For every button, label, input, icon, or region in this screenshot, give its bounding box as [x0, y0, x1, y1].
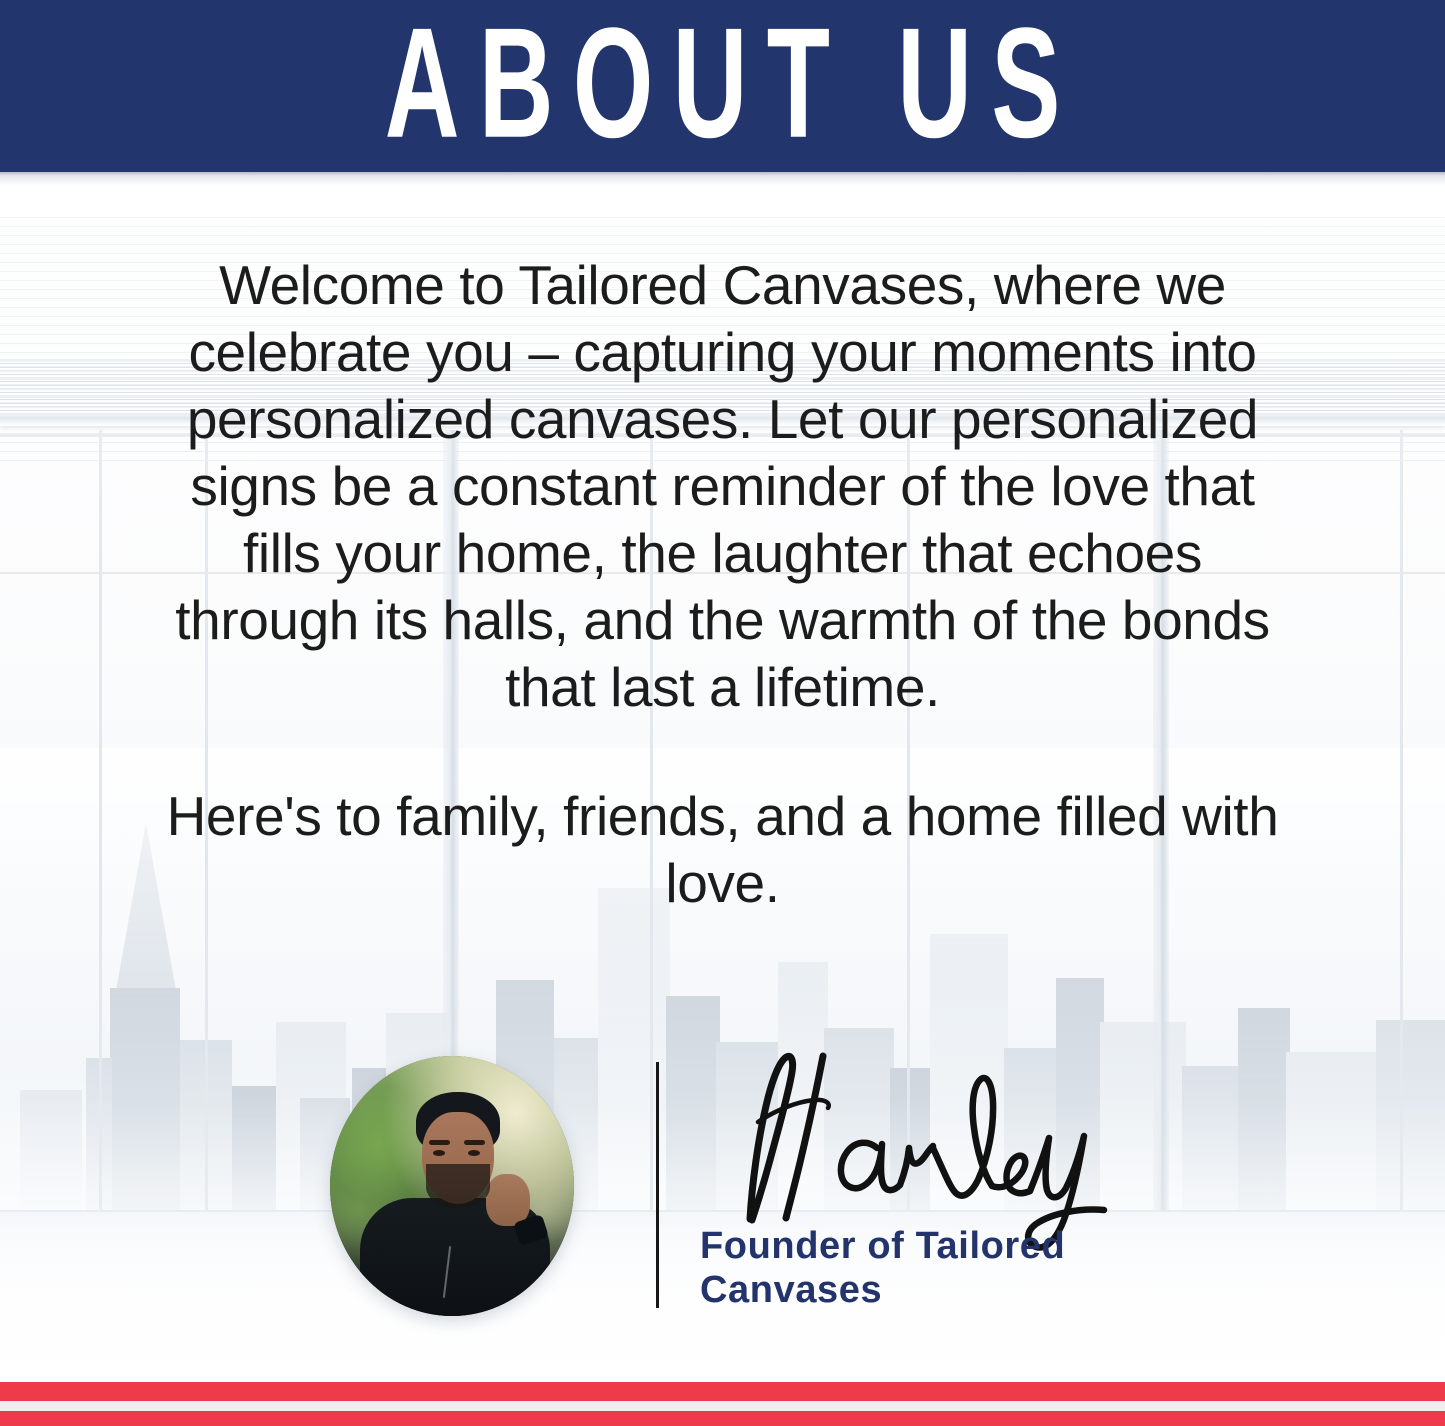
footer-stripe-top: [0, 1382, 1445, 1401]
building: [1286, 1052, 1380, 1218]
about-us-page: ABOUT US Welcome to Tailored Canvases, w…: [0, 0, 1445, 1426]
about-copy: Welcome to Tailored Canvases, where we c…: [150, 252, 1295, 917]
building: [1182, 1066, 1242, 1218]
vertical-divider: [656, 1062, 659, 1308]
founder-role: Founder of Tailored Canvases: [700, 1224, 1170, 1312]
avatar-beard: [426, 1164, 490, 1208]
paragraph-spacer: [150, 721, 1295, 783]
avatar: [330, 1056, 574, 1316]
handwritten-signature: [692, 1044, 1162, 1254]
building: [1376, 1020, 1445, 1218]
about-paragraph-2: Here's to family, friends, and a home fi…: [150, 783, 1295, 917]
building: [232, 1086, 276, 1218]
page-title: ABOUT US: [365, 5, 1079, 162]
footer-stripe-bottom: [0, 1411, 1445, 1426]
avatar-eyebrow: [464, 1140, 485, 1145]
building: [110, 988, 180, 1218]
avatar-photo: [330, 1056, 574, 1316]
building: [20, 1090, 82, 1218]
building: [1238, 1008, 1290, 1218]
about-paragraph-1: Welcome to Tailored Canvases, where we c…: [150, 252, 1295, 721]
header-banner: ABOUT US: [0, 0, 1445, 172]
avatar-eyebrow: [429, 1140, 450, 1145]
avatar-hand: [486, 1174, 530, 1226]
founder-signature-block: Founder of Tailored Canvases: [326, 1046, 1176, 1336]
footer-stripe-gap: [0, 1401, 1445, 1411]
avatar-eye: [468, 1150, 480, 1156]
founder-role-line-1: Founder of Tailored: [700, 1224, 1170, 1268]
avatar-eye: [433, 1150, 445, 1156]
founder-role-line-2: Canvases: [700, 1268, 1170, 1312]
